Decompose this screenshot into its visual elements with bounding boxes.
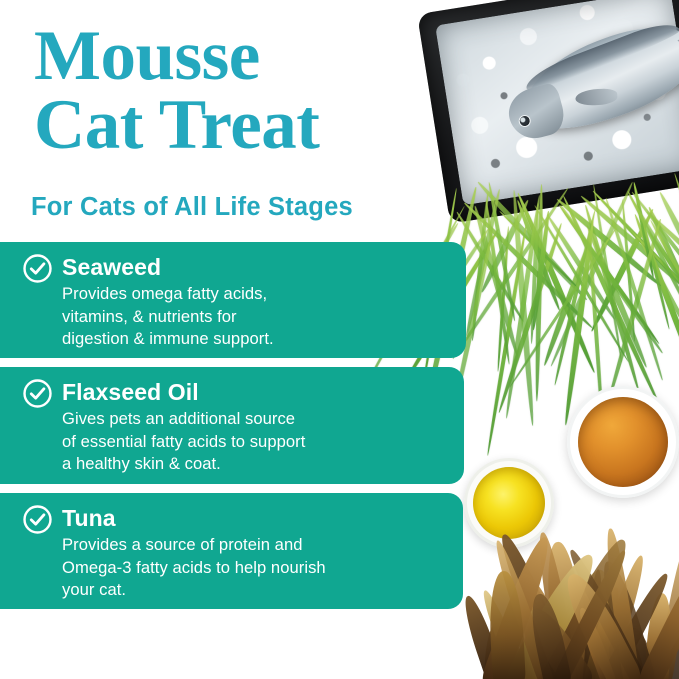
feature-card-body-line: digestion & immune support. [62,328,448,350]
sea-grass-blade [583,204,640,392]
sea-grass-blade [584,224,649,369]
kelp-frond [567,617,608,679]
kelp-frond [550,547,632,679]
sea-grass-blade [516,192,598,375]
kelp-frond [527,580,600,679]
sea-grass-blade [589,208,656,334]
fish-dorsal-band [522,16,679,94]
sea-grass-blade [632,182,656,278]
sea-grass-blade [484,200,511,366]
feature-card-body-line: Provides omega fatty acids, [62,283,448,305]
sea-grass-blade [621,199,636,342]
tuna-fish-on-ice-tray-photo [417,0,679,224]
sea-grass-blade [629,228,679,382]
feature-card-body-line: your cat. [62,579,445,601]
sea-grass-blade [640,214,671,331]
sea-grass-blade [451,187,569,360]
kelp-frond [480,534,557,679]
sea-grass-blade [646,205,679,301]
kelp-frond [520,601,595,679]
ice-speckle-texture [435,0,679,205]
sea-grass-blade [487,182,517,322]
kelp-frond [578,594,617,679]
sea-grass-blade [533,204,630,362]
sea-grass-blade [644,210,679,366]
sea-grass-blade [592,189,679,317]
sea-grass-blade [587,229,604,430]
feature-card-body-line: vitamins, & nutrients for [62,306,448,328]
sea-grass-blade [498,210,580,290]
feature-card-body-line: of essential fatty acids to support [62,431,446,453]
kelp-frond [582,569,605,679]
sea-grass-blade [562,219,595,425]
kelp-frond [654,556,679,679]
tuna-fish-body [510,8,679,147]
sea-grass-blade [462,201,593,329]
green-sea-grass-photo [448,176,679,422]
sea-grass-blade [648,219,679,431]
sea-grass-blade [642,235,679,405]
sea-grass-blade [558,204,661,346]
kelp-frond [553,579,591,679]
kelp-frond [644,592,675,679]
sea-grass-blade [632,213,679,414]
kelp-frond [541,540,590,679]
kelp-frond [575,606,617,679]
feature-card-heading: Tuna [62,504,445,533]
kelp-frond [483,617,513,679]
fish-tail-fin [672,8,679,72]
feature-card-body-line: Omega-3 fatty acids to help nourish [62,557,445,579]
kelp-frond [537,533,635,679]
feature-card-body-line: Provides a source of protein and [62,534,445,556]
sea-grass-blade [626,190,679,330]
feature-card-body: Provides a source of protein and Omega-3… [62,534,445,601]
feature-card-body: Provides omega fatty acids, vitamins, & … [62,283,448,350]
kelp-frond [487,571,526,679]
sea-grass-blade [497,223,565,415]
kelp-frond [506,568,579,679]
kelp-frond [563,600,642,679]
kelp-frond [487,611,537,679]
product-feature-infographic: Mousse Cat Treat For Cats of All Life St… [0,0,679,679]
sea-grass-blade [606,219,662,402]
page-subtitle: For Cats of All Life Stages [31,193,353,222]
fish-head [503,82,568,144]
kelp-frond [557,567,644,679]
kelp-frond [532,563,616,679]
kelp-frond [636,536,679,679]
sea-grass-blade [658,190,679,299]
kelp-frond [565,547,649,679]
sea-grass-blade [549,181,635,368]
kelp-frond [478,587,531,679]
check-circle-icon [22,253,53,284]
feature-card-list: Seaweed Provides omega fatty acids, vita… [0,242,466,609]
kelp-frond [459,593,508,679]
sea-grass-blade [534,183,544,401]
kelp-frond [573,624,618,679]
sea-grass-blade [555,196,664,288]
kelp-frond [576,570,619,679]
sea-grass-blade [638,237,679,386]
page-title-line-1: Mousse [34,22,454,91]
kelp-frond [597,570,673,679]
check-circle-icon [22,378,53,409]
kelp-frond [557,606,604,679]
amber-oil-bowl-photo [567,386,679,498]
brown-kelp-seaweed-photo [470,516,679,679]
crushed-ice-bed [435,0,679,205]
sea-grass-blade [553,210,597,387]
sea-grass-blade [476,180,589,301]
feature-card-flaxseed-oil: Flaxseed Oil Gives pets an additional so… [0,367,464,484]
sea-grass-blade [479,199,530,294]
sea-grass-blade [485,225,528,457]
sea-grass-blade [530,203,541,345]
sea-grass-blade [472,205,520,358]
sea-grass-blade [592,183,623,361]
sea-grass-blade [511,189,536,426]
sea-grass-blade [561,195,662,406]
sea-grass-blade [559,204,665,355]
sea-grass-blade [497,225,511,372]
kelp-frond [506,598,564,679]
sea-grass-blade [627,194,679,321]
feature-card-seaweed: Seaweed Provides omega fatty acids, vita… [0,242,466,358]
kelp-frond [602,623,633,679]
page-title: Mousse Cat Treat [34,22,454,160]
sea-grass-blade [470,192,490,342]
feature-card-body-line: Gives pets an additional source [62,408,446,430]
kelp-frond [522,600,550,679]
sea-grass-blade [631,191,679,318]
fish-eye [517,114,532,129]
kelp-frond [602,527,641,679]
kelp-frond [616,625,647,679]
kelp-frond [534,530,580,679]
sea-grass-blade [645,230,679,416]
kelp-frond [655,539,679,679]
yellow-flaxseed-oil-bowl-photo [464,458,554,548]
kelp-frond [596,558,658,679]
feature-card-heading: Flaxseed Oil [62,378,446,407]
kelp-frond [493,530,577,679]
sea-grass-blade [504,194,542,418]
feature-card-heading: Seaweed [62,253,448,282]
sea-grass-blade [464,188,502,337]
kelp-frond [502,610,567,679]
feature-card-tuna: Tuna Provides a source of protein and Om… [0,493,463,609]
sea-grass-blade [604,197,664,381]
kelp-frond [581,596,639,679]
sea-grass-blade [531,211,551,330]
sea-grass-blade [508,225,619,388]
sea-grass-blade [674,172,679,314]
sea-grass-blade [542,236,594,366]
sea-grass-blade [546,213,617,321]
feature-card-body-line: a healthy skin & coat. [62,453,446,475]
check-circle-icon [22,504,53,535]
kelp-frond [490,538,556,679]
fish-pectoral-fin [575,88,618,106]
kelp-frond [526,591,573,679]
feature-card-body: Gives pets an additional source of essen… [62,408,446,475]
sea-grass-blade [579,194,679,314]
kelp-frond [620,624,659,679]
kelp-frond [590,553,650,679]
sea-grass-blade [515,199,562,312]
kelp-frond [503,548,604,679]
kelp-frond [582,585,624,679]
kelp-frond [522,595,574,679]
page-title-line-2: Cat Treat [34,91,454,160]
